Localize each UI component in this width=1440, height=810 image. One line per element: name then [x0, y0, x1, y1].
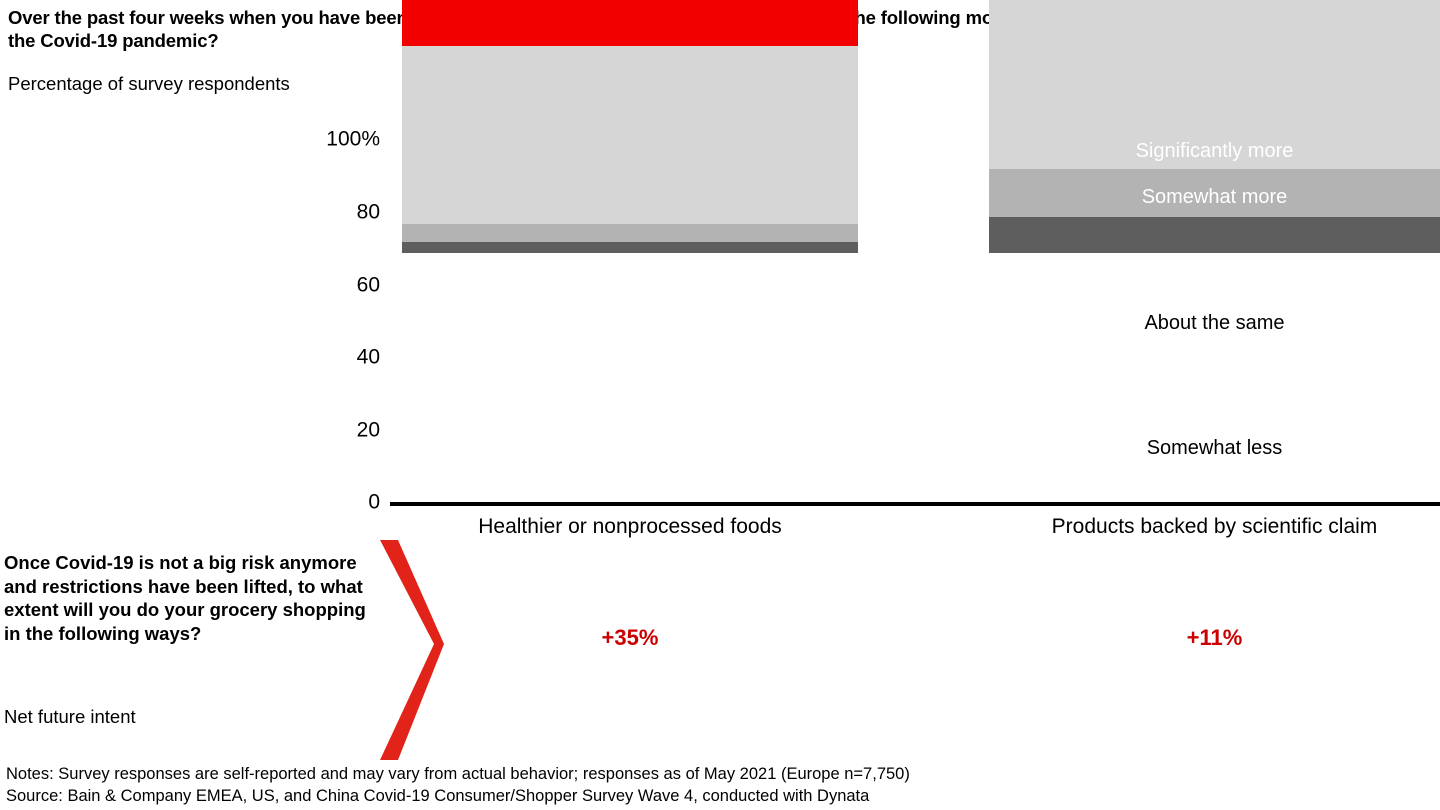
legend-label-significantly-less-not-at-all: Significantly less/not at all — [989, 473, 1440, 497]
legend-text: Significantly less/not at all — [1100, 474, 1329, 497]
y-axis: 100% 80 60 40 20 0 — [300, 0, 380, 560]
footnote-notes: Notes: Survey responses are self-reporte… — [6, 763, 910, 785]
y-tick-80: 80 — [300, 202, 380, 223]
net-value-healthier-or-nonprocessed-foods: +35% — [402, 625, 858, 651]
legend-text: About the same — [1144, 312, 1284, 335]
category-label-products-backed-by-scientific-claim: Products backed by scientific claim — [989, 515, 1440, 539]
y-tick-20: 20 — [300, 420, 380, 441]
y-tick-60: 60 — [300, 275, 380, 296]
bar-healthier-or-nonprocessed-foods[interactable] — [402, 0, 858, 253]
segment-somewhat-less[interactable] — [402, 224, 858, 242]
net-value-products-backed-by-scientific-claim: +11% — [989, 625, 1440, 651]
chevron-right-icon — [372, 540, 444, 765]
y-tick-40: 40 — [300, 347, 380, 368]
segment-somewhat-less[interactable] — [989, 169, 1440, 216]
secondary-question: Once Covid-19 is not a big risk anymore … — [4, 551, 374, 646]
y-tick-0: 0 — [300, 492, 380, 513]
x-axis-line — [390, 502, 1440, 506]
chart-plot-area: 100% 80 60 40 20 0 Significantly more — [0, 0, 1440, 560]
segment-significantly-less-not-at-all[interactable] — [989, 217, 1440, 253]
segment-about-the-same[interactable] — [989, 0, 1440, 169]
legend-text: Somewhat less — [1147, 437, 1283, 460]
bar-products-backed-by-scientific-claim[interactable] — [989, 0, 1440, 253]
legend-label-about-the-same: About the same — [989, 311, 1440, 335]
footnote-source: Source: Bain & Company EMEA, US, and Chi… — [6, 785, 910, 807]
legend-label-somewhat-less: Somewhat less — [989, 436, 1440, 460]
category-label-healthier-or-nonprocessed-foods: Healthier or nonprocessed foods — [402, 515, 858, 539]
footnotes: Notes: Survey responses are self-reporte… — [6, 763, 910, 808]
secondary-subtitle: Net future intent — [4, 706, 136, 728]
segment-somewhat-more[interactable] — [402, 0, 858, 46]
y-tick-100: 100% — [300, 129, 380, 150]
segment-significantly-less-not-at-all[interactable] — [402, 242, 858, 253]
segment-about-the-same[interactable] — [402, 46, 858, 224]
chart-page: Over the past four weeks when you have b… — [0, 0, 1440, 810]
